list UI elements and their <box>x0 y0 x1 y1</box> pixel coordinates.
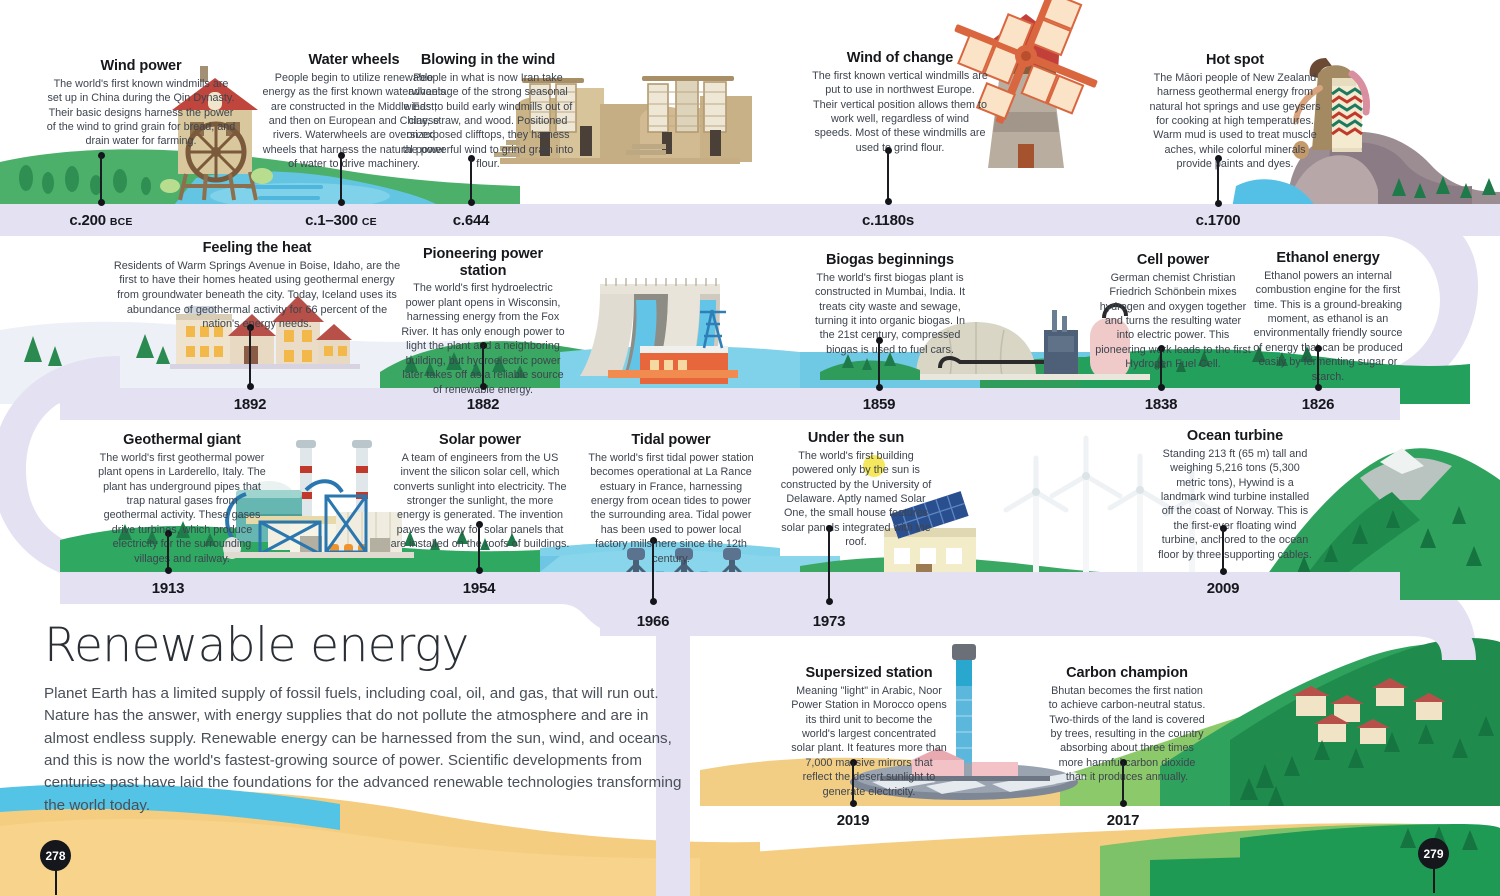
marker-stem <box>1222 528 1224 572</box>
infographic-page: Wind power The world's first known windm… <box>0 0 1500 896</box>
entry-ethanol-energy: Ethanol energy Ethanol powers an interna… <box>1248 250 1408 384</box>
date-marker-supersized-station <box>848 762 858 804</box>
marker-stem <box>887 150 889 202</box>
entry-heading: Wind power <box>46 58 236 75</box>
date-era: CE <box>362 216 377 228</box>
marker-dot <box>338 199 345 206</box>
entry-body: Meaning "light" in Arabic, Noor Power St… <box>790 684 948 800</box>
entry-heading: Solar power <box>390 432 570 449</box>
entry-heading: Under the sun <box>780 430 932 447</box>
entry-biogas-beginnings: Biogas beginnings The world's first biog… <box>810 252 970 357</box>
entry-wind-power: Wind power The world's first known windm… <box>46 58 236 149</box>
entry-body: The world's first tidal power station be… <box>588 451 754 567</box>
date-marker-pioneering-power-station <box>478 345 488 387</box>
marker-dot <box>247 383 254 390</box>
date-value: 1973 <box>813 613 846 630</box>
entry-body: People in what is now Iran take advantag… <box>402 71 574 172</box>
date-value: 1954 <box>463 580 496 597</box>
entry-heading: Supersized station <box>790 665 948 682</box>
entry-cell-power: Cell power German chemist Christian Frie… <box>1095 252 1251 372</box>
date-label-feeling-the-heat: 1892 <box>234 396 267 413</box>
marker-stem <box>878 340 880 388</box>
date-value: 1826 <box>1302 396 1335 413</box>
entry-body: The world's first biogas plant is constr… <box>810 271 970 358</box>
marker-stem <box>340 155 342 203</box>
entry-body: The world's first geothermal power plant… <box>98 451 266 567</box>
date-value: c.1180s <box>862 212 914 229</box>
marker-dot <box>468 199 475 206</box>
marker-dot <box>1220 568 1227 575</box>
marker-stem <box>482 345 484 387</box>
date-value: 2017 <box>1107 812 1140 829</box>
entry-body: Ethanol powers an internal combustion en… <box>1248 269 1408 385</box>
marker-dot <box>1158 384 1165 391</box>
entry-body: The Māori people of New Zealand harness … <box>1148 71 1322 172</box>
date-marker-ethanol-energy <box>1313 348 1323 388</box>
date-value: 1859 <box>863 396 896 413</box>
entry-heading: Geothermal giant <box>98 432 266 449</box>
date-label-geothermal-giant: 1913 <box>152 580 185 597</box>
date-marker-blowing-in-the-wind <box>466 158 476 203</box>
entry-under-the-sun: Under the sun The world's first building… <box>780 430 932 550</box>
marker-dot <box>476 567 483 574</box>
entry-heading: Pioneering power station <box>398 246 568 279</box>
entry-heading: Carbon champion <box>1048 665 1206 682</box>
marker-stem <box>249 327 251 387</box>
marker-stem <box>100 155 102 203</box>
date-value: 1838 <box>1145 396 1178 413</box>
page-title: Renewable energy <box>44 622 684 669</box>
date-value: 1892 <box>234 396 267 413</box>
marker-dot <box>165 567 172 574</box>
date-marker-tidal-power <box>648 540 658 602</box>
date-value: 1882 <box>467 396 500 413</box>
entry-body: Residents of Warm Springs Avenue in Bois… <box>112 259 402 332</box>
date-marker-cell-power <box>1156 348 1166 388</box>
date-marker-ocean-turbine <box>1218 528 1228 572</box>
entry-heading: Feeling the heat <box>112 240 402 257</box>
entry-heading: Wind of change <box>812 50 988 67</box>
marker-dot <box>1315 384 1322 391</box>
date-label-hot-spot: c.1700 <box>1196 212 1241 229</box>
entry-hot-spot: Hot spot The Māori people of New Zealand… <box>1148 52 1322 172</box>
date-marker-wind-power <box>96 155 106 203</box>
entry-supersized-station: Supersized station Meaning "light" in Ar… <box>790 665 948 799</box>
date-value: 1913 <box>152 580 185 597</box>
entry-heading: Blowing in the wind <box>402 52 574 69</box>
date-value: 2019 <box>837 812 870 829</box>
entry-heading: Ethanol energy <box>1248 250 1408 267</box>
entry-heading: Biogas beginnings <box>810 252 970 269</box>
entry-blowing-in-the-wind: Blowing in the wind People in what is no… <box>402 52 574 172</box>
date-label-wind-power: c.200 BCE <box>69 212 132 229</box>
entry-geothermal-giant: Geothermal giant The world's first geoth… <box>98 432 266 566</box>
entry-feeling-the-heat: Feeling the heat Residents of Warm Sprin… <box>112 240 402 332</box>
marker-stem <box>167 533 169 571</box>
page-intro: Planet Earth has a limited supply of fos… <box>44 683 684 817</box>
marker-stem <box>478 524 480 571</box>
date-marker-water-wheels <box>336 155 346 203</box>
entry-tidal-power: Tidal power The world's first tidal powe… <box>588 432 754 566</box>
date-era: BCE <box>110 216 133 228</box>
marker-stem <box>652 540 654 602</box>
marker-dot <box>876 384 883 391</box>
entry-wind-of-change: Wind of change The first known vertical … <box>812 50 988 155</box>
entry-body: German chemist Christian Friedrich Schön… <box>1095 271 1251 372</box>
marker-dot <box>480 383 487 390</box>
date-label-supersized-station: 2019 <box>837 812 870 829</box>
date-marker-wind-of-change <box>883 150 893 202</box>
marker-dot <box>1215 200 1222 207</box>
marker-stem <box>470 158 472 203</box>
entry-heading: Hot spot <box>1148 52 1322 69</box>
page-number-left: 278 <box>40 840 71 871</box>
marker-dot <box>650 598 657 605</box>
date-marker-solar-power <box>474 524 484 571</box>
marker-stem <box>1122 762 1124 804</box>
marker-dot <box>885 198 892 205</box>
date-label-cell-power: 1838 <box>1145 396 1178 413</box>
date-value: c.200 <box>69 212 106 229</box>
date-marker-feeling-the-heat <box>245 327 255 387</box>
entry-body: The world's first building powered only … <box>780 449 932 550</box>
entry-body: The world's first known windmills are se… <box>46 77 236 149</box>
date-value: c.1700 <box>1196 212 1241 229</box>
date-marker-geothermal-giant <box>163 533 173 571</box>
marker-dot <box>826 598 833 605</box>
date-label-carbon-champion: 2017 <box>1107 812 1140 829</box>
date-label-ethanol-energy: 1826 <box>1302 396 1335 413</box>
entry-heading: Cell power <box>1095 252 1251 269</box>
date-label-wind-of-change: c.1180s <box>862 212 914 229</box>
date-label-water-wheels: c.1–300 CE <box>305 212 377 229</box>
date-marker-hot-spot <box>1213 158 1223 204</box>
entry-body: The first known vertical windmills are p… <box>812 69 988 156</box>
marker-stem <box>1317 348 1319 388</box>
date-label-pioneering-power-station: 1882 <box>467 396 500 413</box>
date-marker-carbon-champion <box>1118 762 1128 804</box>
marker-dot <box>850 800 857 807</box>
entry-body: Standing 213 ft (65 m) tall and weighing… <box>1155 447 1315 563</box>
title-block: Renewable energy Planet Earth has a limi… <box>44 622 684 817</box>
date-label-ocean-turbine: 2009 <box>1207 580 1240 597</box>
date-label-under-the-sun: 1973 <box>813 613 846 630</box>
date-value: c.644 <box>453 212 490 229</box>
date-label-blowing-in-the-wind: c.644 <box>453 212 490 229</box>
marker-stem <box>852 762 854 804</box>
marker-stem <box>828 528 830 602</box>
marker-dot <box>98 199 105 206</box>
date-label-solar-power: 1954 <box>463 580 496 597</box>
entry-ocean-turbine: Ocean turbine Standing 213 ft (65 m) tal… <box>1155 428 1315 562</box>
entry-heading: Tidal power <box>588 432 754 449</box>
entry-heading: Ocean turbine <box>1155 428 1315 445</box>
date-value: c.1–300 <box>305 212 358 229</box>
date-marker-biogas-beginnings <box>874 340 884 388</box>
date-value: 2009 <box>1207 580 1240 597</box>
timeline-band-row3 <box>60 572 1400 604</box>
date-label-biogas-beginnings: 1859 <box>863 396 896 413</box>
marker-stem <box>1160 348 1162 388</box>
marker-dot <box>1120 800 1127 807</box>
timeline-band-row1 <box>0 204 1500 236</box>
date-marker-under-the-sun <box>824 528 834 602</box>
marker-stem <box>1217 158 1219 204</box>
page-number-right: 279 <box>1418 838 1449 869</box>
